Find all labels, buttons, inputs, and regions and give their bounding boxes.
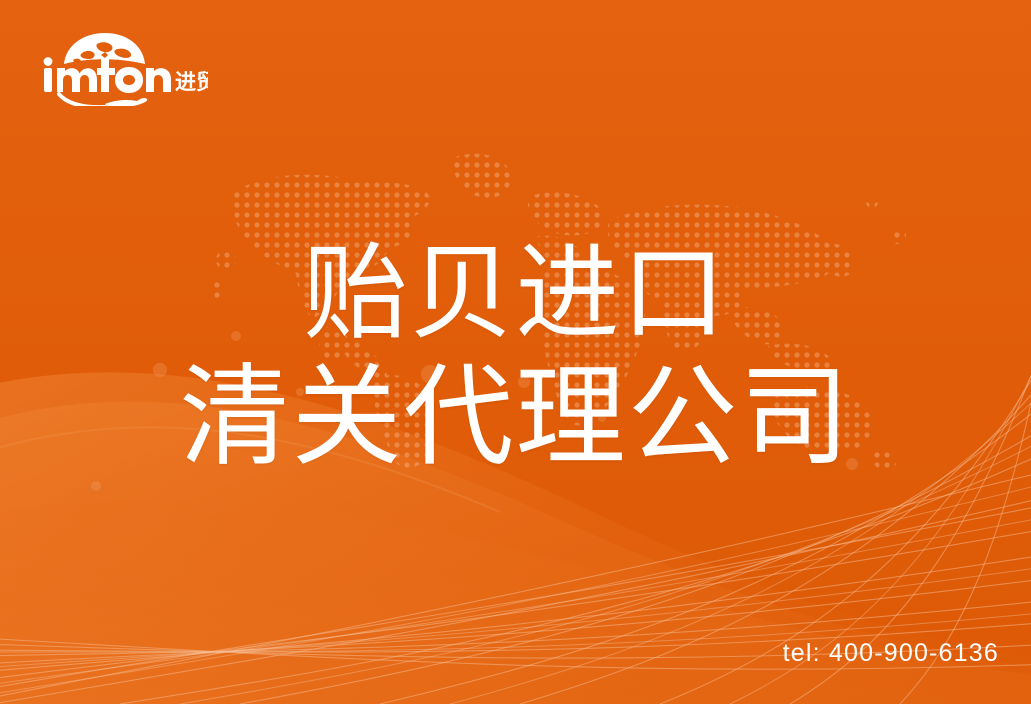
headline-line-1: 贻贝进口 [0,232,1031,356]
contact-phone[interactable]: tel: 400-900-6136 [783,639,999,668]
swoosh-plane-icon [59,94,105,106]
page-title: 贻贝进口 清关代理公司 [0,232,1031,480]
imton-wordmark [44,57,171,93]
brand-logo[interactable]: 进贸通 ® [33,30,208,106]
headline-line-2: 清关代理公司 [0,356,1031,480]
banner: 进贸通 ® imton 进贸通 ® 贻贝进口 清关代理公司 tel: 400-9… [0,0,1031,704]
plane-glyph-icon [105,98,147,106]
logo-chinese-text: 进贸通 [175,71,208,94]
